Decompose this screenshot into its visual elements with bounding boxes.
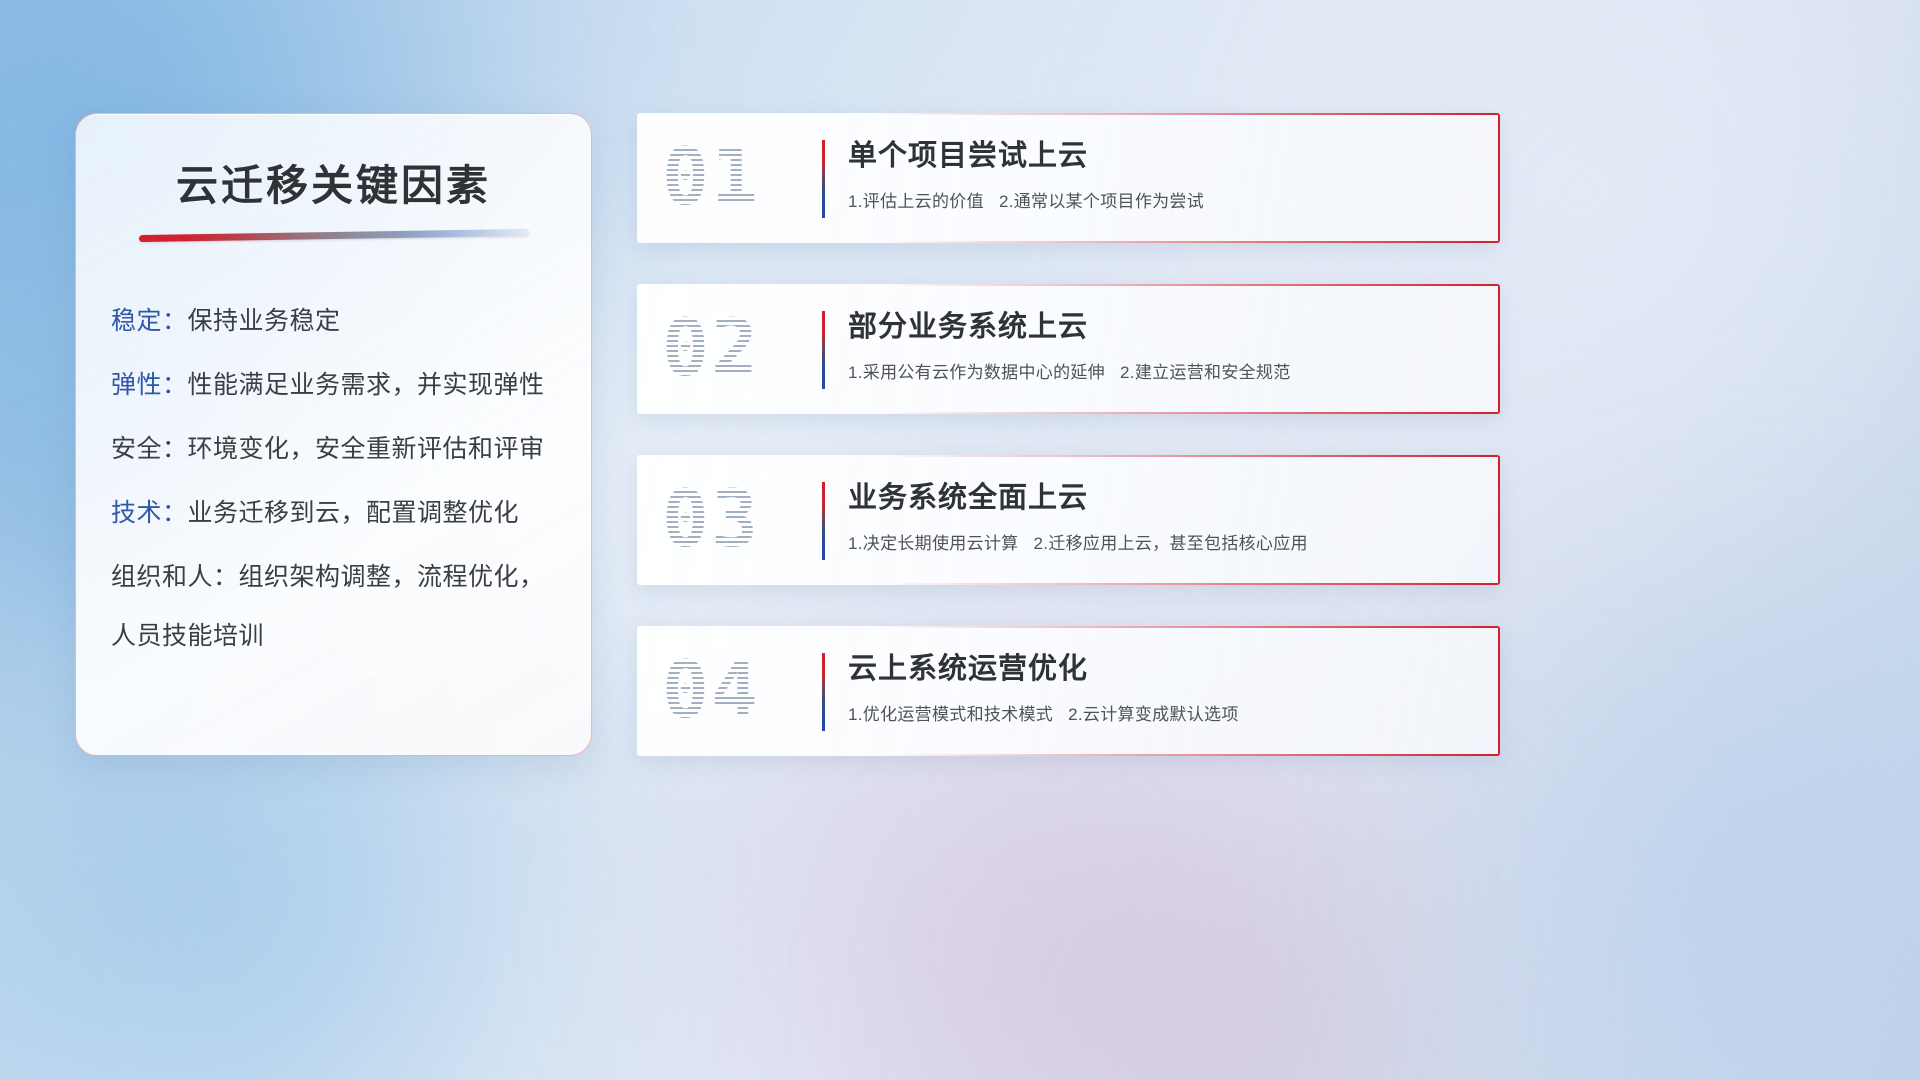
card-right-accent: [1498, 455, 1500, 585]
list-item-text: 环境变化，安全重新评估和评审: [188, 435, 545, 463]
card-body: 单个项目尝试上云 1.评估上云的价值 2.通常以某个项目作为尝试: [848, 138, 1472, 212]
card-right-accent: [1498, 113, 1500, 243]
card-title: 云上系统运营优化: [848, 651, 1472, 687]
list-item-label: 弹性：: [111, 371, 188, 399]
list-item-text: 组织架构调整，流程优化，: [239, 563, 545, 591]
card-divider-accent: [822, 311, 825, 389]
stage-number-watermark: 02: [662, 310, 760, 388]
card-right-accent: [1498, 626, 1500, 756]
list-item-label: 稳定：: [111, 307, 188, 335]
card-body: 云上系统运营优化 1.优化运营模式和技术模式 2.云计算变成默认选项: [848, 651, 1472, 725]
page-title: 云迁移关键因素: [76, 152, 591, 213]
list-item: 稳定：保持业务稳定: [111, 309, 591, 334]
stage-number-watermark: 01: [662, 139, 760, 217]
card-description: 1.采用公有云作为数据中心的延伸 2.建立运营和安全规范: [848, 358, 1472, 383]
list-item-text: 性能满足业务需求，并实现弹性: [188, 371, 545, 399]
stage-card[interactable]: 03 业务系统全面上云 1.决定长期使用云计算 2.迁移应用上云，甚至包括核心应…: [637, 455, 1500, 585]
list-item-label: 组织和人：: [111, 563, 239, 591]
card-divider-accent: [822, 482, 825, 560]
stage-cards-list: 01 单个项目尝试上云 1.评估上云的价值 2.通常以某个项目作为尝试 02 部…: [637, 113, 1500, 797]
title-underline-accent: [139, 229, 529, 242]
list-item-label: 安全：: [111, 435, 188, 463]
stage-number-text: 01: [662, 139, 760, 217]
list-item: 弹性：性能满足业务需求，并实现弹性: [111, 373, 591, 398]
list-item-text: 保持业务稳定: [188, 307, 341, 335]
key-factors-panel: 云迁移关键因素 稳定：保持业务稳定 弹性：性能满足业务需求，并实现弹性 安全：环…: [75, 113, 592, 756]
card-description: 1.优化运营模式和技术模式 2.云计算变成默认选项: [848, 700, 1472, 725]
card-title: 单个项目尝试上云: [848, 138, 1472, 174]
card-divider-accent: [822, 653, 825, 731]
stage-number-watermark: 03: [662, 481, 760, 559]
card-body: 业务系统全面上云 1.决定长期使用云计算 2.迁移应用上云，甚至包括核心应用: [848, 480, 1472, 554]
card-description: 1.决定长期使用云计算 2.迁移应用上云，甚至包括核心应用: [848, 529, 1472, 554]
list-item: 安全：环境变化，安全重新评估和评审: [111, 437, 591, 462]
stage-card[interactable]: 02 部分业务系统上云 1.采用公有云作为数据中心的延伸 2.建立运营和安全规范: [637, 284, 1500, 414]
list-item: 组织和人：组织架构调整，流程优化，: [111, 565, 591, 590]
list-item-label: 技术：: [111, 499, 188, 527]
stage-number-text: 02: [662, 310, 760, 388]
card-body: 部分业务系统上云 1.采用公有云作为数据中心的延伸 2.建立运营和安全规范: [848, 309, 1472, 383]
stage-number-text: 03: [662, 481, 760, 559]
card-title: 部分业务系统上云: [848, 309, 1472, 345]
list-item-text: 业务迁移到云，配置调整优化: [188, 499, 520, 527]
card-description: 1.评估上云的价值 2.通常以某个项目作为尝试: [848, 187, 1472, 212]
stage-number-text: 04: [662, 652, 760, 730]
stage-card[interactable]: 04 云上系统运营优化 1.优化运营模式和技术模式 2.云计算变成默认选项: [637, 626, 1500, 756]
list-item: 人员技能培训: [111, 624, 591, 649]
list-item: 技术：业务迁移到云，配置调整优化: [111, 501, 591, 526]
list-item-text: 人员技能培训: [111, 622, 264, 650]
card-divider-accent: [822, 140, 825, 218]
stage-card[interactable]: 01 单个项目尝试上云 1.评估上云的价值 2.通常以某个项目作为尝试: [637, 113, 1500, 243]
card-right-accent: [1498, 284, 1500, 414]
stage-number-watermark: 04: [662, 652, 760, 730]
card-title: 业务系统全面上云: [848, 480, 1472, 516]
key-factors-list: 稳定：保持业务稳定 弹性：性能满足业务需求，并实现弹性 安全：环境变化，安全重新…: [111, 309, 591, 649]
